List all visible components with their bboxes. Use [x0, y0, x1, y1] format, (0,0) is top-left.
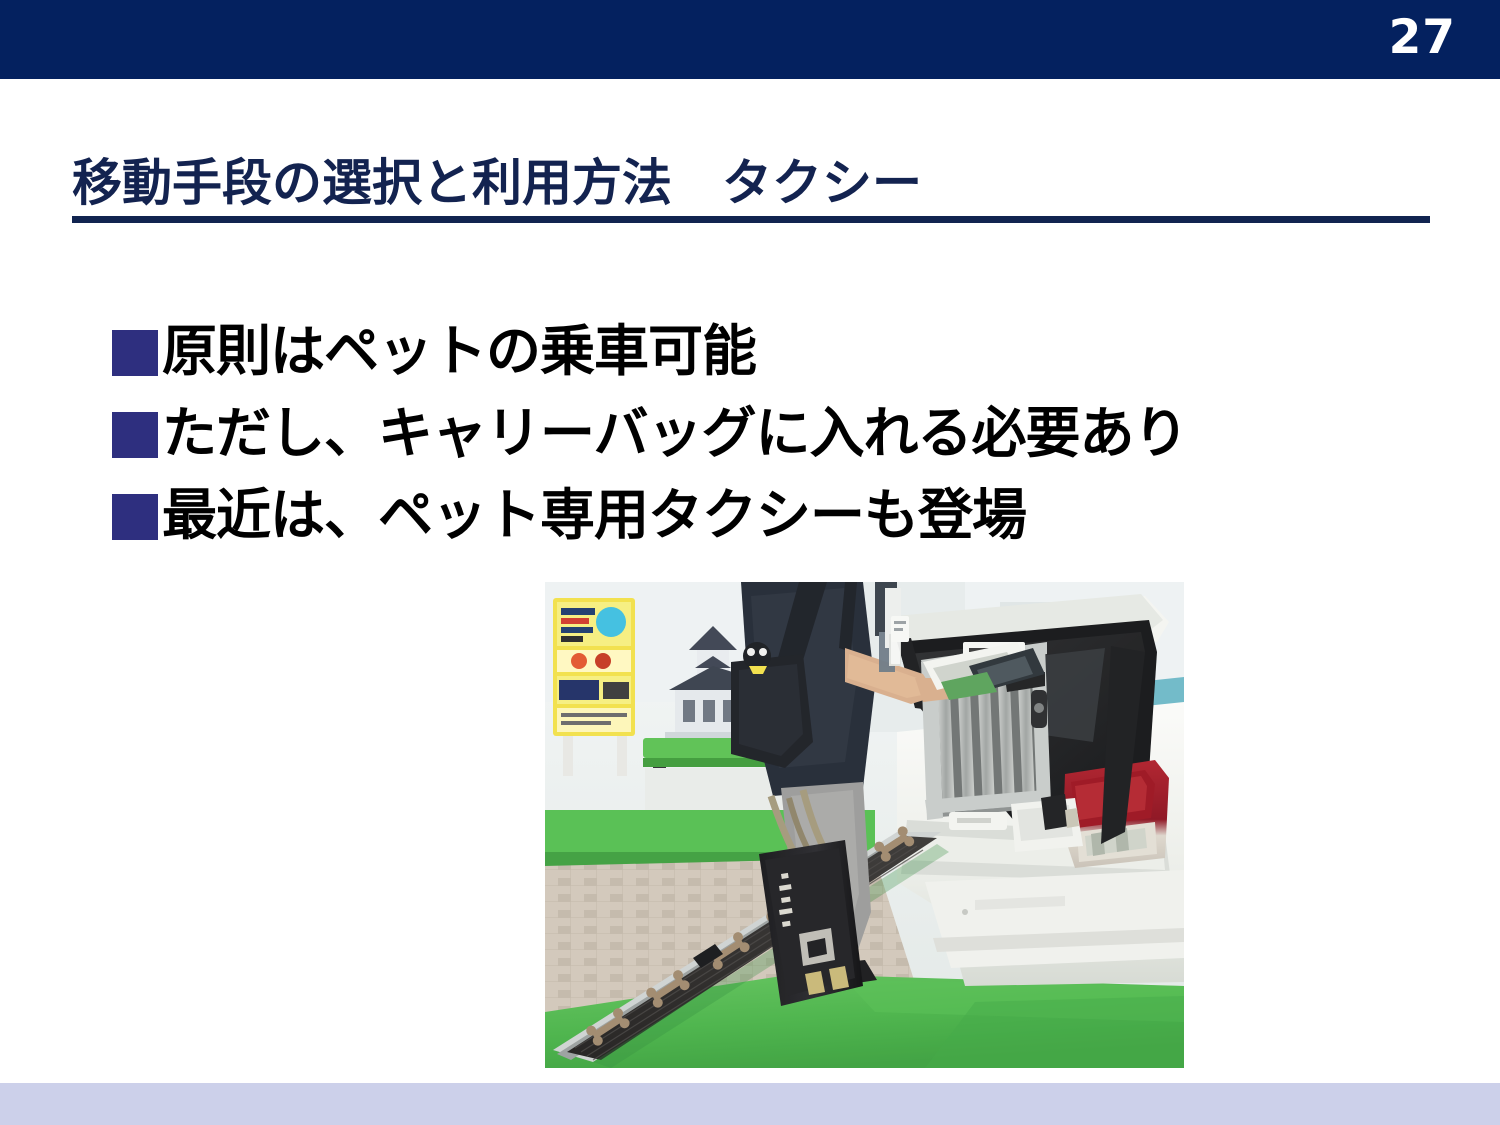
pet-taxi-photo	[545, 582, 1184, 1068]
square-bullet-icon	[112, 494, 158, 540]
page-number: 27	[1389, 6, 1456, 70]
pet-taxi-photo-graphic	[545, 582, 1184, 1068]
list-item: ただし、キャリーバッグに入れる必要あり	[112, 392, 1392, 474]
list-item-label: ただし、キャリーバッグに入れる必要あり	[162, 402, 1187, 464]
slide-header-band: 27	[0, 0, 1500, 79]
slide-footer-band	[0, 1083, 1500, 1125]
list-item: 原則はペットの乗車可能	[112, 310, 1392, 392]
title-underline-rule	[72, 216, 1430, 223]
square-bullet-icon	[112, 412, 158, 458]
list-item: 最近は、ペット専用タクシーも登場	[112, 474, 1392, 556]
slide-title-text: 移動手段の選択と利用方法 タクシー	[72, 152, 1432, 214]
square-bullet-icon	[112, 330, 158, 376]
page-title: 移動手段の選択と利用方法 タクシー	[72, 152, 1432, 214]
list-item-label: 最近は、ペット専用タクシーも登場	[162, 484, 1026, 546]
list-item-label: 原則はペットの乗車可能	[162, 320, 756, 382]
bullet-list: 原則はペットの乗車可能 ただし、キャリーバッグに入れる必要あり 最近は、ペット専…	[112, 310, 1392, 556]
